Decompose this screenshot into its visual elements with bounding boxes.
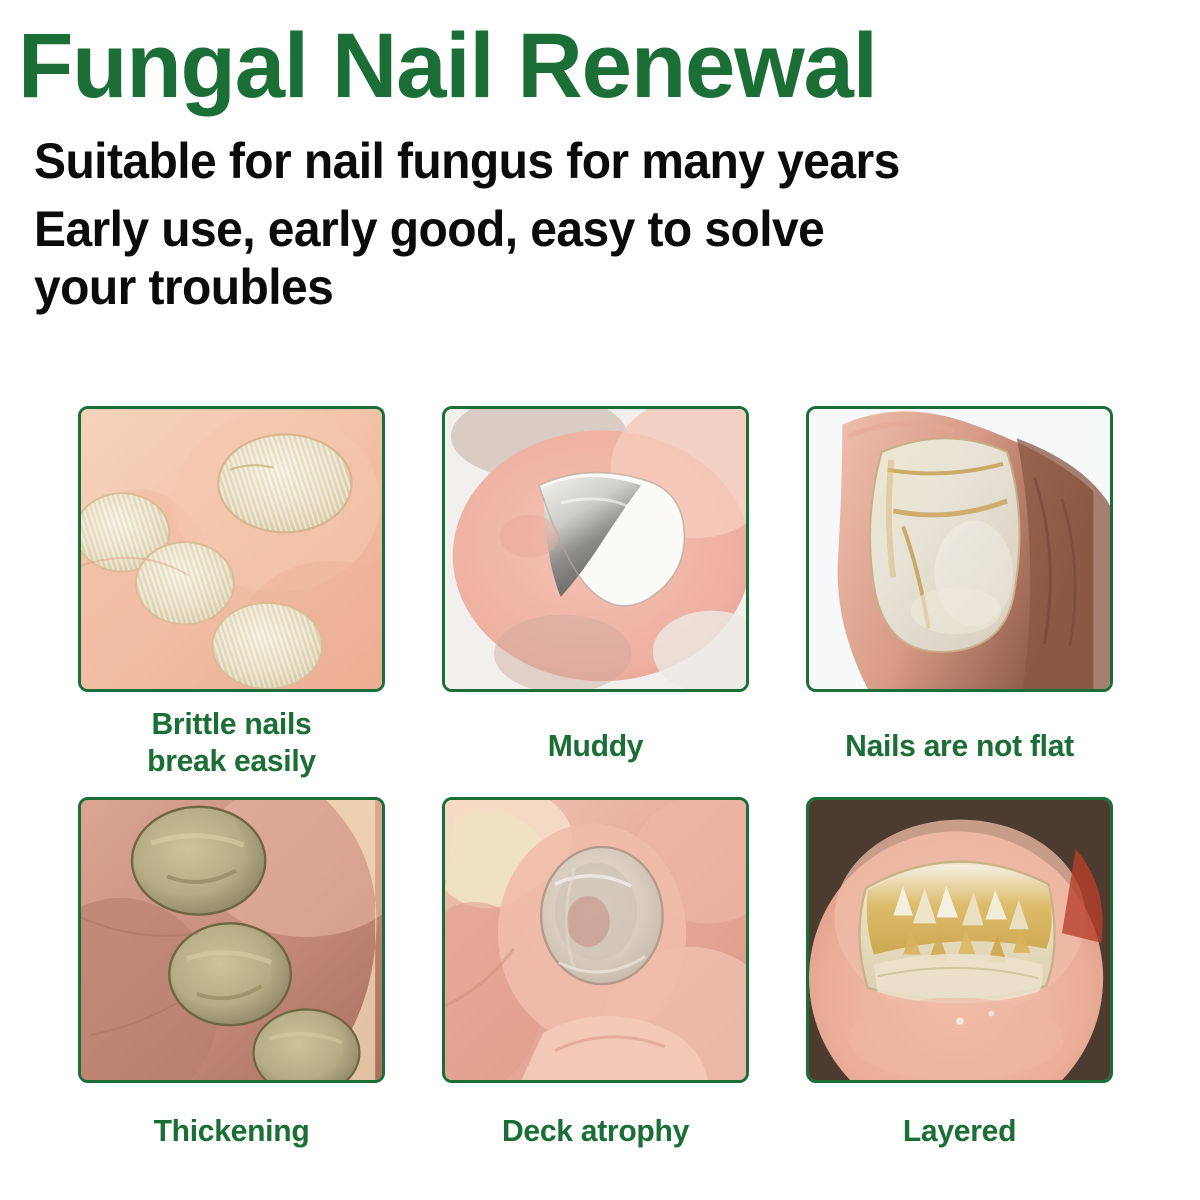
deck-atrophy-photo [442, 797, 749, 1083]
brittle-nails-photo [78, 406, 385, 692]
page-title: Fungal Nail Renewal [18, 22, 1170, 111]
symptom-caption: Thickening [83, 1113, 381, 1150]
promo-page: Fungal Nail Renewal Suitable for nail fu… [0, 0, 1200, 1200]
symptom-card-not-flat[interactable]: Nails are not flat [806, 406, 1113, 779]
symptom-card-thickening[interactable]: Thickening [78, 797, 385, 1150]
symptom-caption: Brittle nailsbreak easily [83, 706, 381, 779]
symptom-caption: Layered [811, 1113, 1109, 1150]
symptom-card-layered[interactable]: Layered [806, 797, 1113, 1150]
symptom-card-muddy[interactable]: Muddy [442, 406, 749, 779]
subtitle-line-1: Suitable for nail fungus for many years [34, 135, 1142, 188]
symptom-caption: Nails are not flat [811, 728, 1109, 765]
symptom-card-deck-atrophy[interactable]: Deck atrophy [442, 797, 749, 1150]
thickened-nails-photo [78, 797, 385, 1083]
layered-nail-photo [806, 797, 1113, 1083]
uneven-nail-photo [806, 406, 1113, 692]
headline-block: Fungal Nail Renewal Suitable for nail fu… [18, 22, 1188, 316]
subtitle-line-2: Early use, early good, easy to solve you… [34, 200, 936, 316]
symptom-caption: Muddy [447, 728, 745, 765]
symptom-card-brittle-nails[interactable]: Brittle nailsbreak easily [78, 406, 385, 779]
symptom-gallery: Brittle nailsbreak easily [78, 406, 1114, 1150]
muddy-nail-photo [442, 406, 749, 692]
symptom-caption: Deck atrophy [447, 1113, 745, 1150]
